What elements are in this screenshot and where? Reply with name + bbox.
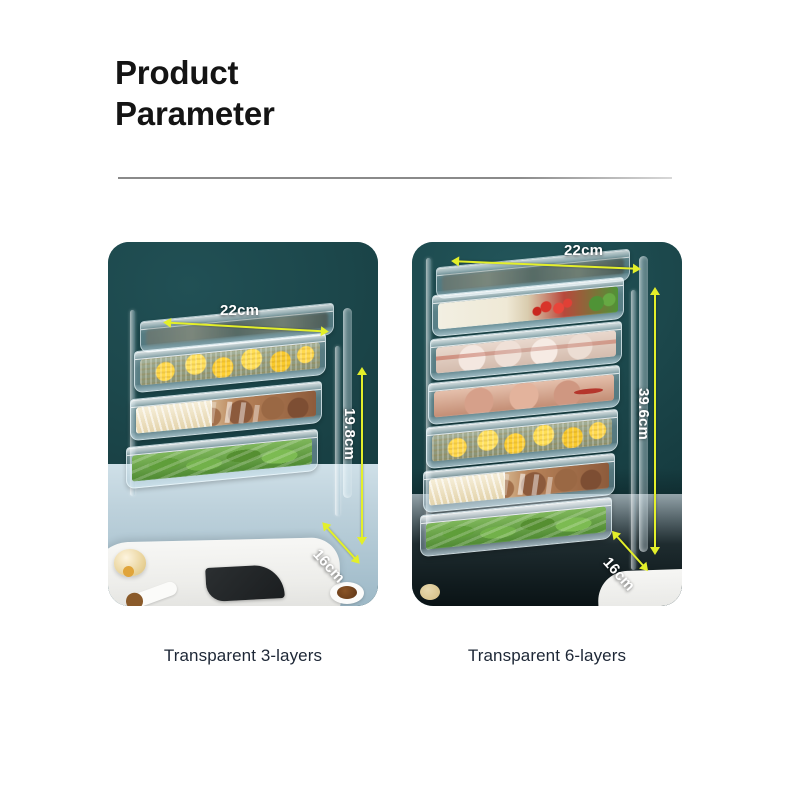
rack-frame-right	[343, 308, 352, 498]
height-arrow	[654, 294, 656, 548]
height-label: 19.8cm	[341, 408, 358, 460]
product-panels: 22cm 19.8cm 16cm	[0, 242, 790, 608]
rack-6-layers	[430, 264, 644, 532]
width-label: 22cm	[564, 242, 603, 259]
height-label: 39.6cm	[635, 388, 652, 440]
caption-transparent-3-layers: Transparent 3-layers	[108, 646, 378, 666]
product-image-transparent-3-layers[interactable]: 22cm 19.8cm 16cm	[108, 242, 378, 606]
scene-6-layers: 22cm 39.6cm 16cm	[412, 242, 682, 606]
food-crumb	[420, 584, 440, 600]
product-image-transparent-6-layers[interactable]: 22cm 39.6cm 16cm	[412, 242, 682, 606]
caption-transparent-6-layers: Transparent 6-layers	[412, 646, 682, 666]
garlic-bulb	[114, 549, 146, 576]
page-title: Product Parameter	[115, 52, 275, 134]
width-label: 22cm	[220, 302, 259, 319]
rack-3-layers	[134, 316, 348, 498]
scene-3-layers: 22cm 19.8cm 16cm	[108, 242, 378, 606]
header-divider	[118, 177, 672, 179]
product-parameter-page: Product Parameter	[0, 0, 790, 790]
height-arrow	[361, 374, 363, 538]
rack-post-front	[335, 346, 340, 516]
